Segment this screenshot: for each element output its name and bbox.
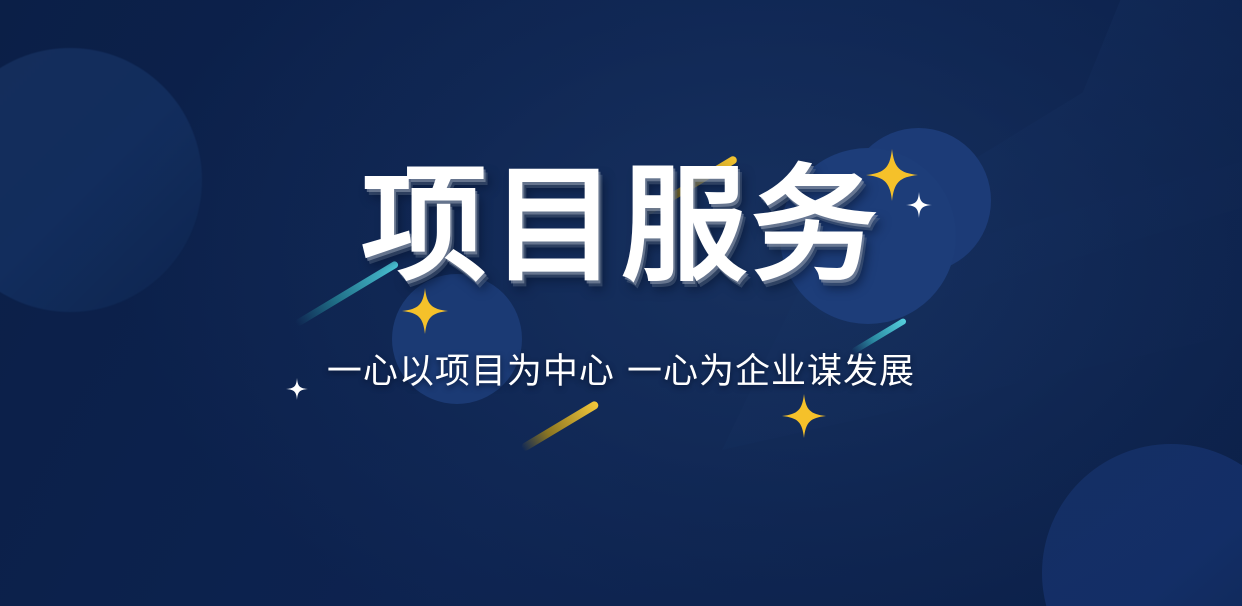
project-service-banner: 项目服务 一心以项目为中心 一心为企业谋发展: [0, 0, 1242, 606]
banner-title: 项目服务: [0, 163, 1242, 289]
banner-subtitle: 一心以项目为中心 一心为企业谋发展: [0, 352, 1242, 392]
banner-text-stack: 项目服务 一心以项目为中心 一心为企业谋发展: [0, 0, 1242, 606]
